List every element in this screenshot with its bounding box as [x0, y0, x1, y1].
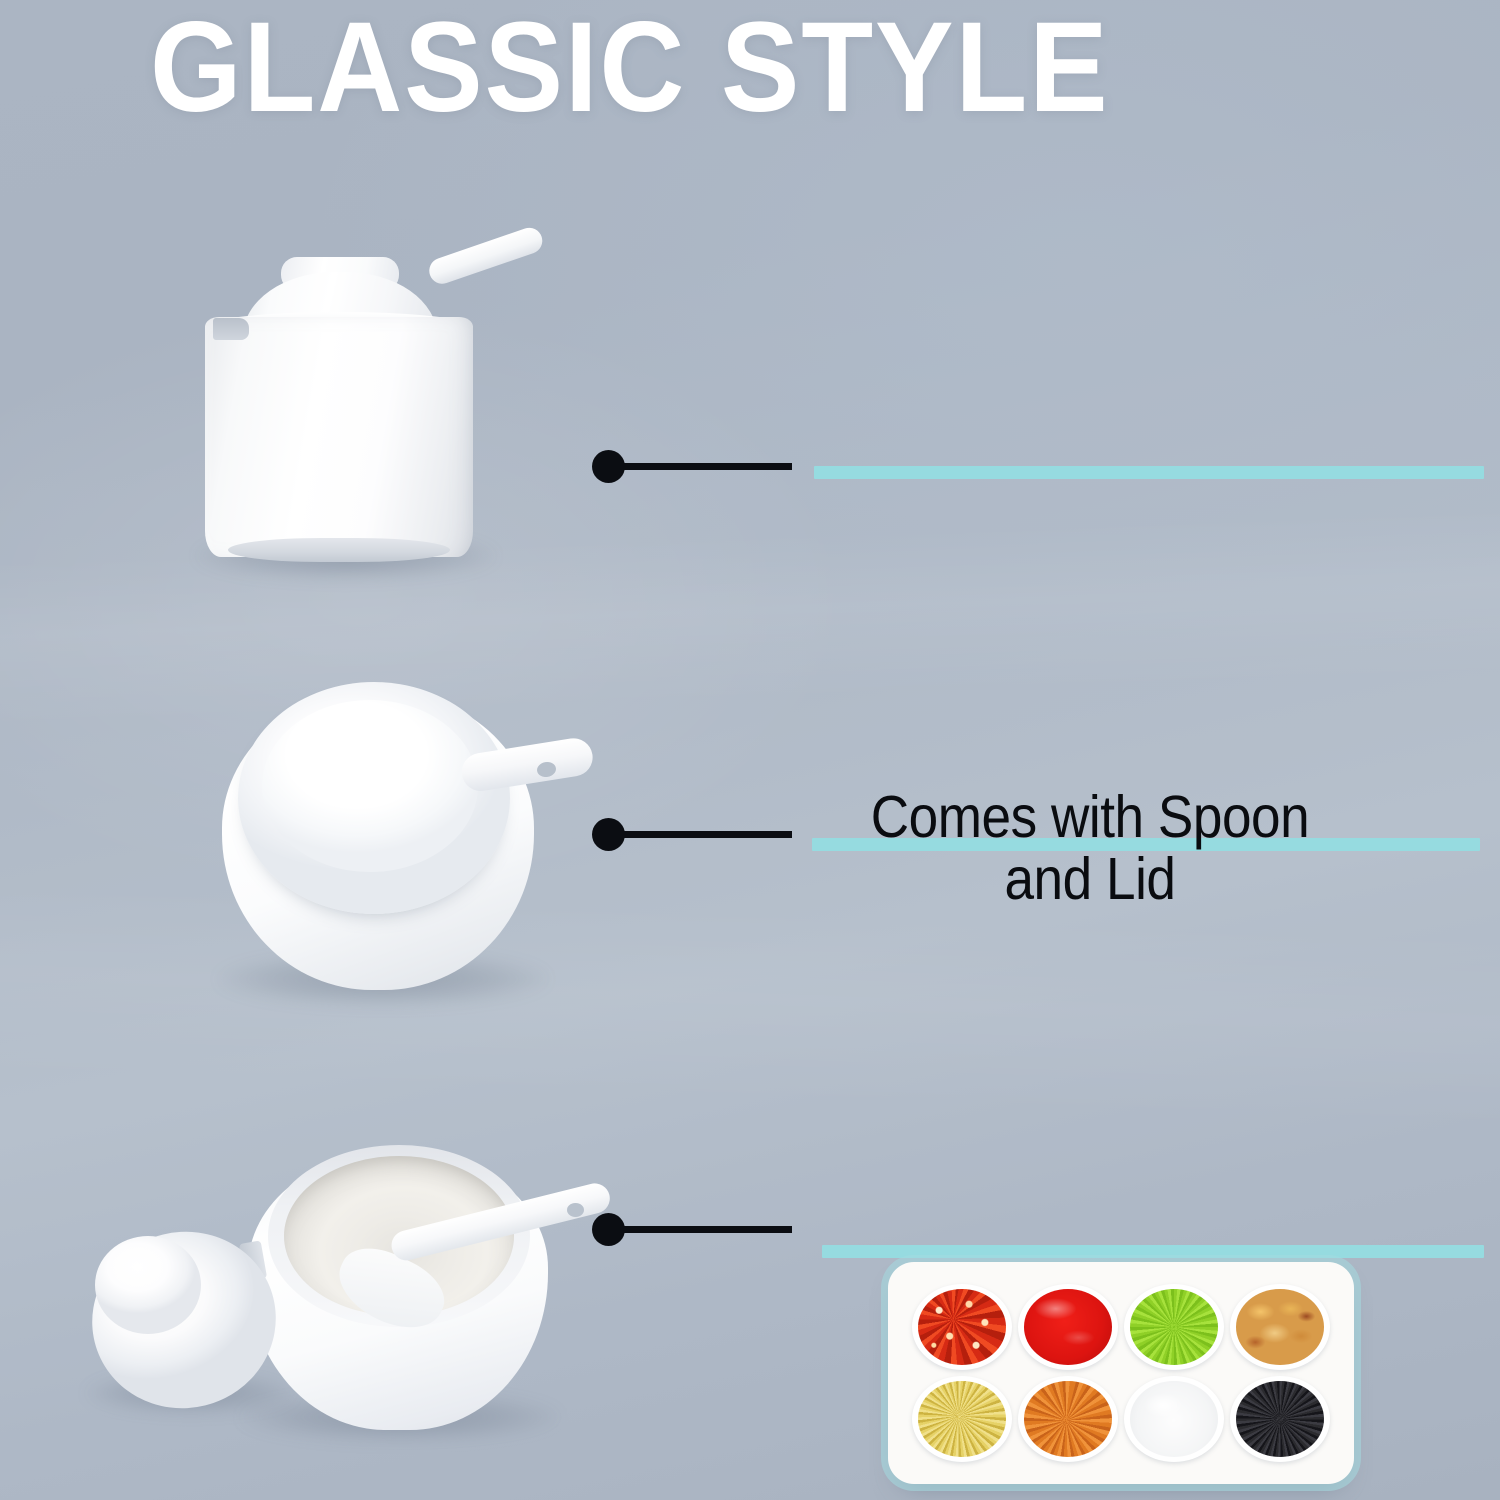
spice-fill-chopped-chili [918, 1289, 1006, 1365]
jar-body [205, 317, 473, 557]
spice-tray-image [888, 1262, 1354, 1484]
spice-fill-dried-chili [1236, 1289, 1324, 1365]
spice-dish [1230, 1284, 1330, 1370]
spice-fill-matcha-powder [1130, 1289, 1218, 1365]
callout-leader-line [620, 463, 792, 470]
callout-label: Comes with Spoon and Lid [739, 786, 1441, 910]
callout-highlight-bar [814, 466, 1484, 479]
callout-highlight-bar [822, 1245, 1484, 1258]
spice-fill-red-sauce [1024, 1289, 1112, 1365]
page-title: GLASSIC STYLE [150, 4, 1300, 134]
spice-dish [912, 1376, 1012, 1462]
spice-dish [1124, 1284, 1224, 1370]
spice-fill-salt [1130, 1381, 1218, 1457]
lid-top [262, 700, 478, 872]
spice-dish [1018, 1284, 1118, 1370]
spice-dish [1230, 1376, 1330, 1462]
spice-dish [1124, 1376, 1224, 1462]
detached-lid-knob [95, 1236, 201, 1334]
spice-fill-black-sesame [1236, 1381, 1324, 1457]
callout-leader-line [620, 1226, 792, 1233]
jar-foot [228, 538, 450, 562]
spice-dish [1018, 1376, 1118, 1462]
spoon-handle-hole [567, 1203, 584, 1217]
spice-dish [912, 1284, 1012, 1370]
lid-notch [213, 318, 249, 340]
spice-fill-mustard-seeds [918, 1381, 1006, 1457]
spoon-handle [426, 224, 546, 287]
spice-fill-chili-powder [1024, 1381, 1112, 1457]
